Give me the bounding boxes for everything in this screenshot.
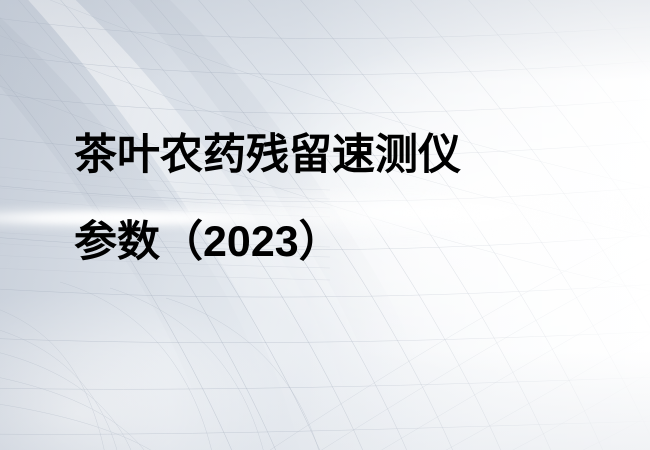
poster-canvas: 茶叶农药残留速测仪 参数（2023） bbox=[0, 0, 650, 450]
title-line-product: 茶叶农药残留速测仪 bbox=[74, 134, 614, 177]
title-block: 茶叶农药残留速测仪 参数（2023） bbox=[74, 134, 614, 264]
title-line-parameters-year: 参数（2023） bbox=[74, 221, 614, 264]
